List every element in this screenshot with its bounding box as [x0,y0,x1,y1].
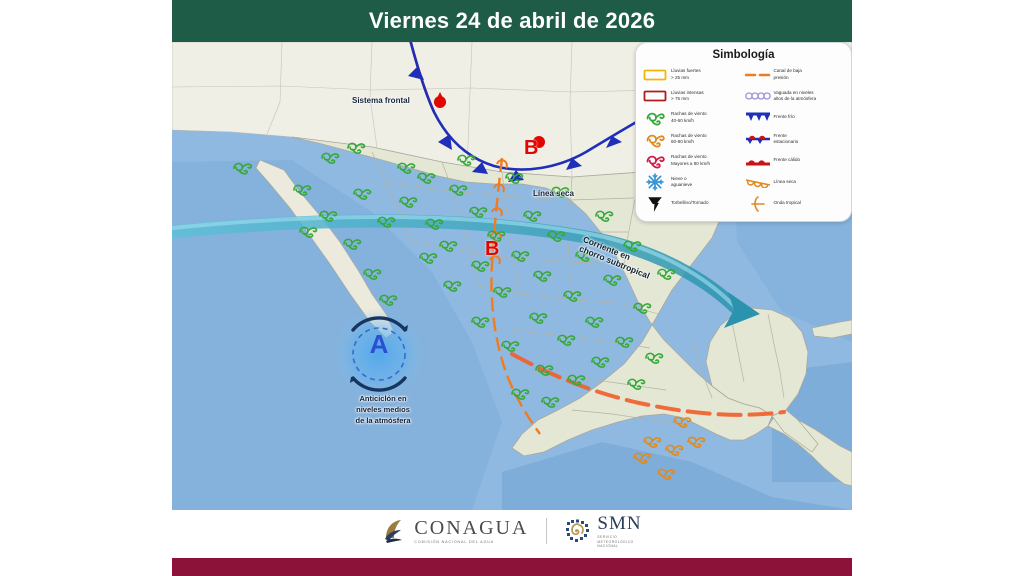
legend-item-upper-trough: Vaguada en nivelesaltos de la atmósfera [745,87,846,106]
legend-item-wind-40-60: Rachas de viento40-60 km/h [642,108,743,127]
smn-name: SMN [597,513,641,535]
conagua-emblem-icon [382,518,408,544]
low-pressure-channel-icon [745,66,771,84]
anticyclone-letter: A [357,329,401,360]
tornado-icon [642,195,668,213]
footer-logos: CONAGUA COMISIÓN NACIONAL DEL AGUA [172,510,852,552]
wind-gust-green-icon [642,109,668,127]
legend-item-low-channel: Canal de bajapresión [745,65,846,84]
rain-strong-box-icon [642,66,668,84]
legend-label-rain-intense: Lluvias intensas> 75 mm [671,90,704,102]
legend-label-dry-line: Línea seca [774,179,796,185]
legend-label-rain-strong: Lluvias fuertes> 25 mm [671,68,701,80]
legend-label-upper-trough: Vaguada en nivelesaltos de la atmósfera [774,90,817,102]
smn-sub-l2: METEOROLÓGICO [597,540,633,544]
annotation-frontal-system: Sistema frontal [352,96,410,105]
header-bar: Viernes 24 de abril de 2026 [172,0,852,42]
snow-sleet-icon [642,173,668,191]
legend-item-tornado: Torbellino/Tornado [642,194,743,213]
stationary-front-icon [745,130,771,148]
cold-front-icon [745,109,771,127]
bottom-accent-bar [172,558,852,576]
smn-subtitle: SERVICIO METEOROLÓGICO NACIONAL [597,535,641,549]
legend-label-low-channel: Canal de bajapresión [774,68,802,80]
upper-trough-icon [745,87,771,105]
annotation-anticyclone-l2: niveles medios [356,405,410,414]
warm-front-icon [745,152,771,170]
smn-emblem-icon [565,518,591,544]
logo-divider [546,518,547,544]
annotation-anticyclone-l1: Anticiclón en [359,394,406,403]
tropical-wave-icon [745,195,771,213]
dry-line-icon [745,173,771,191]
infographic-root: Viernes 24 de abril de 2026 [0,0,1024,576]
conagua-text-stack: CONAGUA COMISIÓN NACIONAL DEL AGUA [414,517,528,545]
conagua-subtitle: COMISIÓN NACIONAL DEL AGUA [414,540,528,545]
legend-label-tropical-wave: Onda tropical [774,200,801,206]
legend-column-right: Canal de bajapresión [745,65,846,213]
page-title: Viernes 24 de abril de 2026 [172,0,852,42]
legend-label-warm-front: Frente cálido [774,157,801,163]
legend-title: Simbología [642,49,845,61]
legend-item-rain-strong: Lluvias fuertes> 25 mm [642,65,743,84]
smn-sub-l1: SERVICIO [597,535,617,539]
legend-item-rain-intense: Lluvias intensas> 75 mm [642,87,743,106]
smn-text-stack: SMN SERVICIO METEOROLÓGICO NACIONAL [597,513,641,549]
conagua-logo-block: CONAGUA COMISIÓN NACIONAL DEL AGUA [382,517,528,545]
wind-gust-orange-icon [642,130,668,148]
wind-gust-red-icon [642,152,668,170]
legend-column-left: Lluvias fuertes> 25 mm Lluvias intensas>… [642,65,743,213]
low-pressure-label-central: B [485,238,499,261]
legend-item-cold-front: Frente frío [745,108,846,127]
legend-label-stationary-front: Frenteestacionario [774,133,799,145]
legend-label-tornado: Torbellino/Tornado [671,200,709,206]
legend-item-snow: Nieve oaguanieve [642,173,743,192]
legend-panel[interactable]: Simbología Lluvias fuertes> 25 mm [635,42,852,222]
legend-label-snow: Nieve oaguanieve [671,176,692,188]
legend-label-wind-60-80: Rachas de viento60-80 km/h [671,133,707,145]
legend-item-wind-80-plus: Rachas de vientoMayores a 80 km/h [642,151,743,170]
legend-item-tropical-wave: Onda tropical [745,194,846,213]
smn-sub-l3: NACIONAL [597,544,618,548]
annotation-dry-line: Línea seca [533,189,574,198]
low-pressure-label-north: B [524,137,538,160]
map-canvas[interactable]: Sistema frontal Línea seca Corriente en … [172,42,852,510]
conagua-name: CONAGUA [414,517,528,540]
legend-label-wind-80-plus: Rachas de vientoMayores a 80 km/h [671,154,710,166]
legend-item-wind-60-80: Rachas de viento60-80 km/h [642,130,743,149]
smn-logo-block: SMN SERVICIO METEOROLÓGICO NACIONAL [565,513,641,549]
legend-item-warm-front: Frente cálido [745,151,846,170]
legend-item-dry-line: Línea seca [745,173,846,192]
weather-map-card: Viernes 24 de abril de 2026 [172,0,852,552]
annotation-anticyclone-l3: de la atmósfera [355,416,410,425]
annotation-anticyclone: Anticiclón en niveles medios de la atmós… [327,394,439,427]
legend-label-wind-40-60: Rachas de viento40-60 km/h [671,111,707,123]
legend-label-cold-front: Frente frío [774,114,795,120]
legend-item-stationary-front: Frenteestacionario [745,130,846,149]
rain-intense-box-icon [642,87,668,105]
